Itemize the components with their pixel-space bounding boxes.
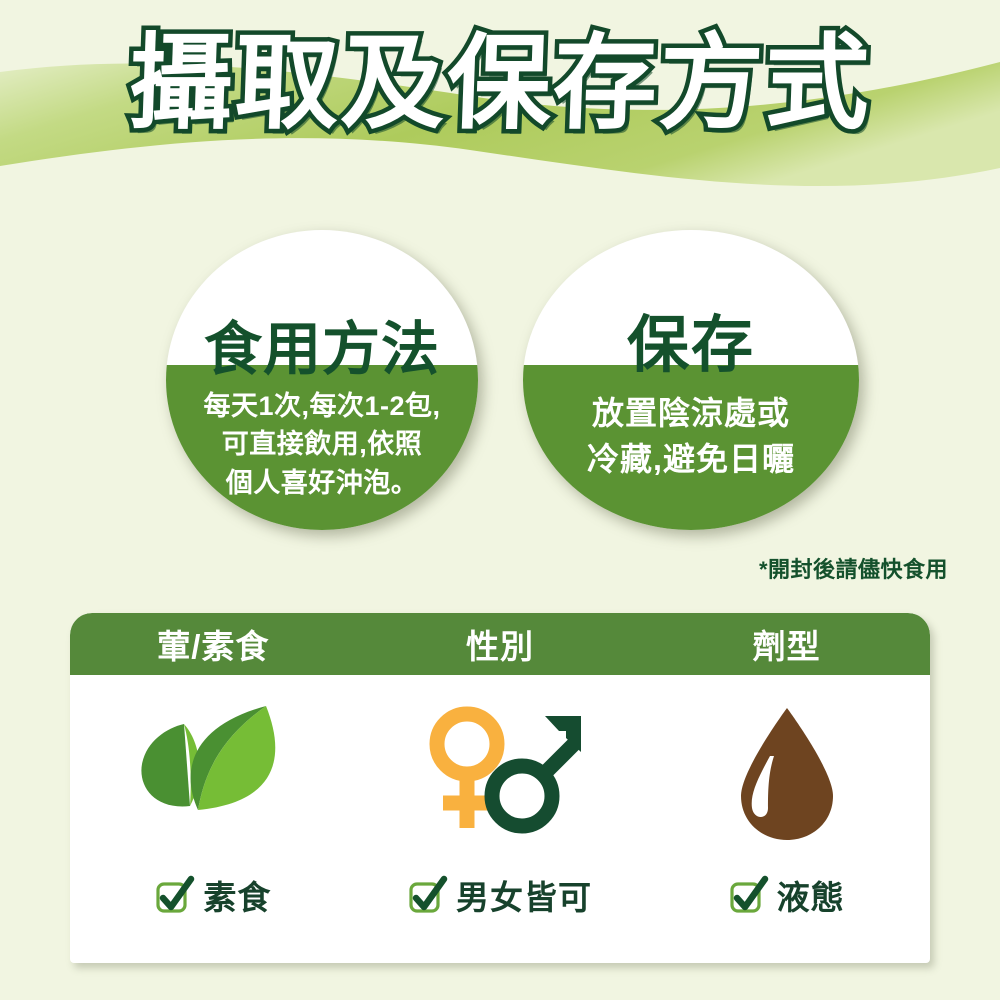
gender-male-female-icon	[405, 698, 595, 848]
circle-usage-body-line-3: 個人喜好沖泡。	[144, 464, 500, 502]
gender-label-row: 男女皆可	[408, 871, 592, 919]
check-icon-diet	[155, 875, 195, 915]
form-label: 液態	[777, 871, 845, 919]
leaf-small-dark	[142, 724, 191, 806]
spec-table-body-row: 素食	[70, 675, 930, 963]
spec-header-gender: 性別	[357, 613, 644, 675]
diet-icon-slot	[118, 675, 308, 871]
leaves-icon	[118, 698, 308, 848]
check-icon-gender	[408, 875, 448, 915]
circle-usage-body-line-1: 每天1次,每次1-2包,	[144, 387, 500, 425]
title-container: 攝取及保存方式	[0, 28, 1000, 138]
opened-package-note: *開封後請儘快食用	[759, 552, 948, 584]
circle-usage-body: 每天1次,每次1-2包, 可直接飲用,依照 個人喜好沖泡。	[144, 387, 500, 502]
spec-column-diet: 素食	[70, 675, 357, 963]
check-icon-form	[729, 875, 769, 915]
gender-label: 男女皆可	[456, 871, 592, 919]
spec-table-header-row: 葷/素食 性別 劑型	[70, 613, 930, 675]
gender-icon-slot	[405, 675, 595, 871]
spec-header-form: 劑型	[643, 613, 930, 675]
info-circle-storage: 保存 放置陰涼處或 冷藏,避免日曬	[523, 230, 859, 530]
circle-usage-heading: 食用方法	[166, 302, 478, 386]
circle-storage-body: 放置陰涼處或 冷藏,避免日曬	[501, 390, 881, 483]
circle-storage-body-line-2: 冷藏,避免日曬	[501, 436, 881, 482]
circle-storage-heading: 保存	[523, 294, 859, 384]
info-circle-usage: 食用方法 每天1次,每次1-2包, 可直接飲用,依照 個人喜好沖泡。	[166, 230, 478, 530]
droplet-icon	[692, 698, 882, 848]
diet-label: 素食	[203, 871, 271, 919]
circle-storage-body-line-1: 放置陰涼處或	[501, 390, 881, 436]
circle-usage-body-line-2: 可直接飲用,依照	[144, 425, 500, 463]
male-symbol	[492, 743, 575, 826]
diet-label-row: 素食	[155, 871, 271, 919]
spec-table-card: 葷/素食 性別 劑型	[70, 613, 930, 963]
page-title: 攝取及保存方式	[127, 28, 873, 138]
spec-column-form: 液態	[643, 675, 930, 963]
spec-column-gender: 男女皆可	[357, 675, 644, 963]
spec-header-diet: 葷/素食	[70, 613, 357, 675]
form-label-row: 液態	[729, 871, 845, 919]
form-icon-slot	[692, 675, 882, 871]
droplet-body	[741, 708, 833, 840]
